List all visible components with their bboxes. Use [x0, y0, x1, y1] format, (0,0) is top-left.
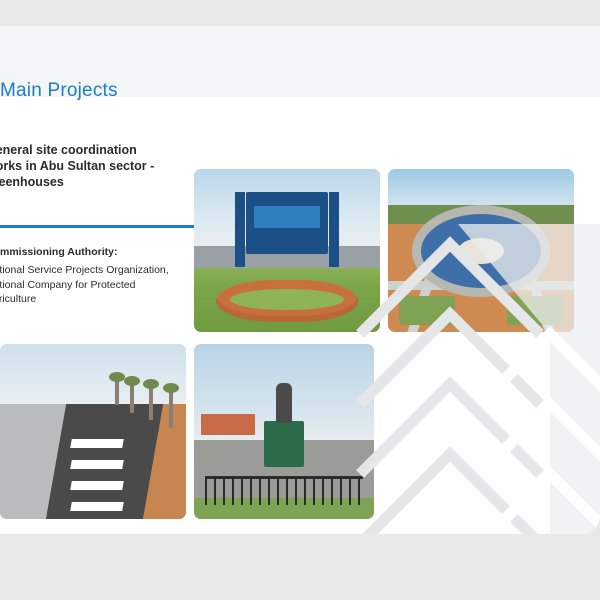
page-title: Main Projects	[0, 80, 118, 102]
roundabout-circle	[412, 205, 550, 297]
commissioning-authority-value: National Service Projects Organization, …	[0, 263, 186, 307]
median-chevron	[70, 481, 124, 490]
sky-region	[0, 344, 186, 404]
statue-figure	[276, 383, 292, 423]
photo-statue	[194, 344, 374, 519]
palm-tree	[115, 379, 119, 405]
sky-region	[388, 169, 574, 205]
photo-roundabout	[388, 169, 574, 332]
slide-card: Main Projects General site coordination …	[0, 26, 600, 534]
palm-tree	[149, 386, 153, 420]
median-chevron	[70, 460, 124, 469]
landscaped-island	[216, 280, 357, 322]
palm-tree	[169, 390, 173, 428]
photo-gateway	[194, 169, 380, 332]
statue-plinth	[264, 421, 304, 467]
median-chevron	[70, 439, 124, 448]
accent-divider	[0, 225, 214, 228]
background-building	[201, 414, 255, 435]
photo-palmroad	[0, 344, 186, 519]
gateway-leg-right	[329, 192, 339, 267]
gateway-tower	[246, 192, 328, 254]
green-patch-right	[507, 296, 563, 325]
green-patch-left	[399, 296, 455, 325]
palm-tree	[130, 383, 134, 413]
iron-fence	[205, 476, 363, 505]
gateway-leg-left	[235, 192, 245, 267]
project-title: General site coordination works in Abu S…	[0, 142, 176, 190]
project-info-block: General site coordination works in Abu S…	[0, 142, 190, 190]
median-chevron	[70, 502, 124, 511]
commissioning-authority-label: Commissioning Authority:	[0, 246, 117, 258]
